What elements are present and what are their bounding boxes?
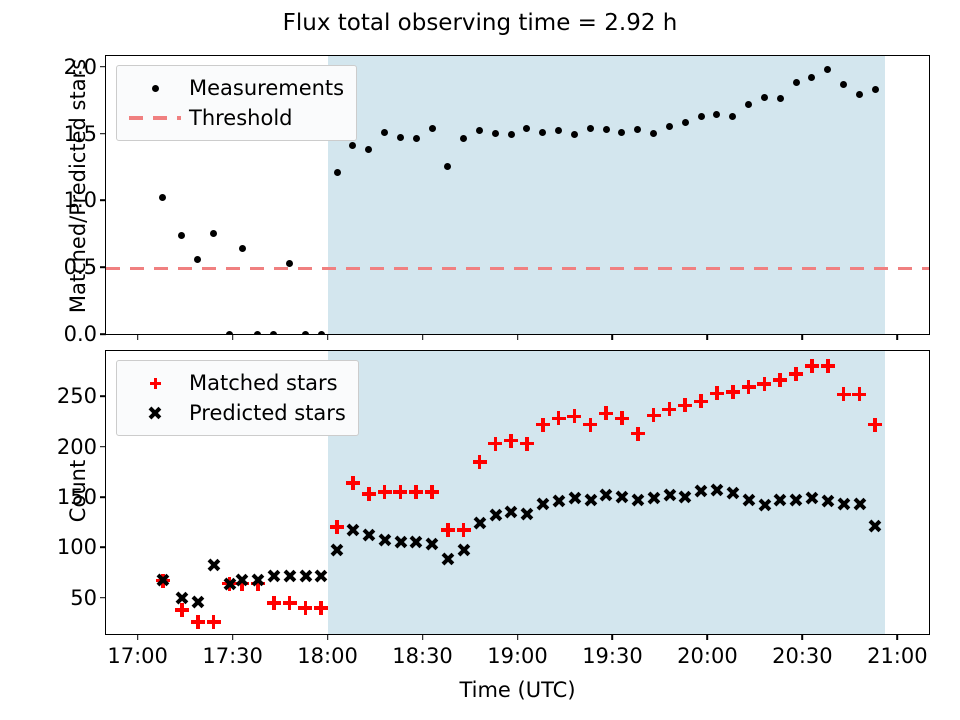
- legend-label-predicted-stars: Predicted stars: [183, 401, 346, 425]
- matched-star-point: [377, 484, 393, 500]
- matched-star-point: [456, 522, 472, 538]
- measurement-point: [508, 131, 515, 138]
- matched-star-point: [535, 417, 551, 433]
- y-tick-label: 100: [57, 535, 97, 559]
- x-tick-mark: [422, 634, 424, 640]
- measurement-point: [761, 94, 768, 101]
- matched-star-point: [820, 358, 836, 374]
- x-tick-mark: [802, 634, 804, 640]
- matched-star-point: [677, 397, 693, 413]
- matched-star-point: [297, 600, 313, 616]
- measurement-point: [194, 256, 201, 263]
- predicted-star-point: [313, 568, 329, 584]
- predicted-star-point: [677, 489, 693, 505]
- x-tick-mark: [612, 334, 614, 340]
- measurement-point: [492, 130, 499, 137]
- measurement-point: [381, 129, 388, 136]
- matched-star-point: [566, 408, 582, 424]
- matched-star-point: [190, 614, 206, 630]
- matched-star-point: [266, 595, 282, 611]
- x-tick-mark: [232, 334, 234, 340]
- x-tick-label: 17:00: [107, 644, 168, 668]
- x-tick-label: 21:00: [867, 644, 928, 668]
- predicted-star-point: [345, 522, 361, 538]
- y-tick-label: 150: [57, 485, 97, 509]
- measurement-point: [270, 331, 277, 335]
- measurement-point: [334, 169, 341, 176]
- predicted-star-point: [487, 507, 503, 523]
- predicted-star-point: [661, 487, 677, 503]
- predicted-star-point: [582, 492, 598, 508]
- measurement-point: [397, 134, 404, 141]
- predicted-star-point: [329, 542, 345, 558]
- predicted-star-point: [392, 534, 408, 550]
- x-tick-mark: [517, 634, 519, 640]
- measurement-point: [587, 125, 594, 132]
- y-tick-mark: [100, 396, 106, 398]
- matched-star-point: [519, 436, 535, 452]
- predicted-star-point: [503, 504, 519, 520]
- x-tick-mark: [897, 634, 899, 640]
- measurement-point: [777, 95, 784, 102]
- predicted-star-point: [646, 490, 662, 506]
- y-tick-mark: [100, 266, 106, 268]
- measurement-point: [178, 232, 185, 239]
- predicted-star-point: [282, 568, 298, 584]
- matched-star-point: [851, 386, 867, 402]
- predicted-star-point: [297, 568, 313, 584]
- legend-label-threshold: Threshold: [183, 106, 293, 130]
- x-axis-label: Time (UTC): [105, 678, 930, 702]
- figure-title: Flux total observing time = 2.92 h: [0, 10, 960, 36]
- predicted-star-point: [867, 518, 883, 534]
- measurement-point: [429, 125, 436, 132]
- predicted-star-point: [266, 568, 282, 584]
- measurement-point: [840, 81, 847, 88]
- predicted-star-point: [408, 534, 424, 550]
- y-tick-mark: [100, 133, 106, 135]
- matched-star-point: [313, 600, 329, 616]
- matched-star-point: [709, 385, 725, 401]
- predicted-star-point: [725, 485, 741, 501]
- measurement-point: [302, 331, 309, 335]
- measurement-point: [824, 66, 831, 73]
- measurement-point: [239, 245, 246, 252]
- y-tick-mark: [100, 66, 106, 68]
- predicted-star-point: [472, 515, 488, 531]
- x-tick-mark: [327, 334, 329, 340]
- measurement-point: [159, 194, 166, 201]
- x-tick-mark: [137, 334, 139, 340]
- measurement-point: [254, 331, 261, 335]
- x-tick-mark: [707, 334, 709, 340]
- predicted-star-point: [804, 490, 820, 506]
- x-tick-mark: [612, 634, 614, 640]
- predicted-star-point: [836, 496, 852, 512]
- predicted-star-point: [851, 496, 867, 512]
- measurement-dot-icon: [127, 77, 183, 99]
- measurement-point: [745, 101, 752, 108]
- predicted-star-point: [693, 483, 709, 499]
- x-tick-mark: [137, 634, 139, 640]
- matched-star-point: [582, 417, 598, 433]
- matched-star-point: [345, 475, 361, 491]
- matched-star-point: [503, 433, 519, 449]
- predicted-star-point: [820, 493, 836, 509]
- matched-star-point: [487, 436, 503, 452]
- shaded-time-span: [328, 56, 885, 334]
- cross-marker-icon: [127, 402, 183, 424]
- measurement-point: [872, 86, 879, 93]
- predicted-star-point: [598, 487, 614, 503]
- measurement-point: [286, 260, 293, 267]
- measurement-point: [603, 126, 610, 133]
- plus-marker-icon: [127, 372, 183, 394]
- y-tick-mark: [100, 597, 106, 599]
- x-tick-mark: [707, 634, 709, 640]
- y-tick-label: 2.0: [64, 55, 97, 79]
- top-panel-legend[interactable]: Measurements Threshold: [116, 65, 357, 141]
- y-tick-label: 0.5: [64, 255, 97, 279]
- matched-star-point: [756, 376, 772, 392]
- matched-star-point: [408, 484, 424, 500]
- predicted-star-point: [614, 489, 630, 505]
- x-tick-label: 18:00: [297, 644, 358, 668]
- legend-item-measurements[interactable]: Measurements: [127, 73, 344, 103]
- matched-star-point: [282, 595, 298, 611]
- y-tick-mark: [100, 333, 106, 335]
- predicted-star-point: [535, 496, 551, 512]
- x-tick-label: 20:30: [772, 644, 833, 668]
- x-tick-mark: [422, 334, 424, 340]
- x-tick-mark: [897, 334, 899, 340]
- matched-star-point: [630, 426, 646, 442]
- y-tick-mark: [100, 547, 106, 549]
- predicted-star-point: [190, 594, 206, 610]
- x-tick-label: 18:30: [392, 644, 453, 668]
- x-tick-label: 19:00: [487, 644, 548, 668]
- matched-star-point: [741, 379, 757, 395]
- bottom-panel-legend[interactable]: Matched stars Predicted stars: [116, 360, 359, 436]
- matched-star-point: [646, 407, 662, 423]
- legend-label-measurements: Measurements: [183, 76, 344, 100]
- x-tick-mark: [232, 634, 234, 640]
- matched-star-point: [804, 358, 820, 374]
- bottom-panel-axes: Count 50100150200250 17:0017:3018:0018:3…: [105, 350, 930, 635]
- matched-star-point: [661, 401, 677, 417]
- predicted-star-point: [377, 532, 393, 548]
- measurement-point: [698, 113, 705, 120]
- y-tick-mark: [100, 446, 106, 448]
- matched-star-point: [551, 410, 567, 426]
- legend-item-predicted-stars[interactable]: Predicted stars: [127, 398, 346, 428]
- measurement-point: [729, 113, 736, 120]
- legend-item-matched-stars[interactable]: Matched stars: [127, 368, 346, 398]
- predicted-star-point: [155, 572, 171, 588]
- legend-label-matched-stars: Matched stars: [183, 371, 338, 395]
- predicted-star-point: [788, 492, 804, 508]
- x-tick-mark: [517, 334, 519, 340]
- matched-star-point: [424, 484, 440, 500]
- predicted-star-point: [551, 493, 567, 509]
- measurement-point: [793, 79, 800, 86]
- matched-star-point: [392, 484, 408, 500]
- matched-star-point: [725, 384, 741, 400]
- predicted-star-point: [174, 590, 190, 606]
- predicted-star-point: [206, 557, 222, 573]
- predicted-star-point: [440, 551, 456, 567]
- predicted-star-point: [741, 492, 757, 508]
- threshold-line: [106, 267, 929, 270]
- matched-star-point: [206, 614, 222, 630]
- predicted-star-point: [519, 506, 535, 522]
- predicted-star-point: [772, 492, 788, 508]
- matched-star-point: [614, 410, 630, 426]
- y-tick-label: 0.0: [64, 322, 97, 346]
- predicted-star-point: [709, 482, 725, 498]
- y-tick-mark: [100, 200, 106, 202]
- y-tick-label: 200: [57, 435, 97, 459]
- x-tick-label: 20:00: [677, 644, 738, 668]
- y-tick-label: 1.0: [64, 188, 97, 212]
- measurement-point: [210, 230, 217, 237]
- predicted-star-point: [756, 497, 772, 513]
- x-tick-label: 17:30: [202, 644, 263, 668]
- x-tick-mark: [802, 334, 804, 340]
- figure-canvas: Flux total observing time = 2.92 h Match…: [0, 0, 960, 720]
- matched-star-point: [867, 417, 883, 433]
- matched-star-point: [329, 519, 345, 535]
- predicted-star-point: [361, 527, 377, 543]
- matched-star-point: [472, 454, 488, 470]
- y-tick-label: 250: [57, 384, 97, 408]
- predicted-star-point: [234, 572, 250, 588]
- x-tick-label: 19:30: [582, 644, 643, 668]
- predicted-star-point: [456, 542, 472, 558]
- predicted-star-point: [250, 572, 266, 588]
- y-tick-mark: [100, 496, 106, 498]
- x-tick-mark: [327, 634, 329, 640]
- measurement-point: [539, 129, 546, 136]
- measurement-point: [318, 331, 325, 335]
- predicted-star-point: [424, 536, 440, 552]
- matched-star-point: [440, 522, 456, 538]
- matched-star-point: [693, 393, 709, 409]
- threshold-dash-icon: [127, 107, 183, 129]
- matched-star-point: [788, 366, 804, 382]
- predicted-star-point: [630, 492, 646, 508]
- predicted-star-point: [566, 490, 582, 506]
- matched-star-point: [598, 405, 614, 421]
- matched-star-point: [836, 386, 852, 402]
- legend-item-threshold[interactable]: Threshold: [127, 103, 344, 133]
- top-panel-axes: Matched/Predicted stars 0.00.51.01.52.0 …: [105, 55, 930, 335]
- matched-star-point: [772, 372, 788, 388]
- y-tick-label: 1.5: [64, 122, 97, 146]
- matched-star-point: [361, 486, 377, 502]
- y-tick-label: 50: [70, 586, 97, 610]
